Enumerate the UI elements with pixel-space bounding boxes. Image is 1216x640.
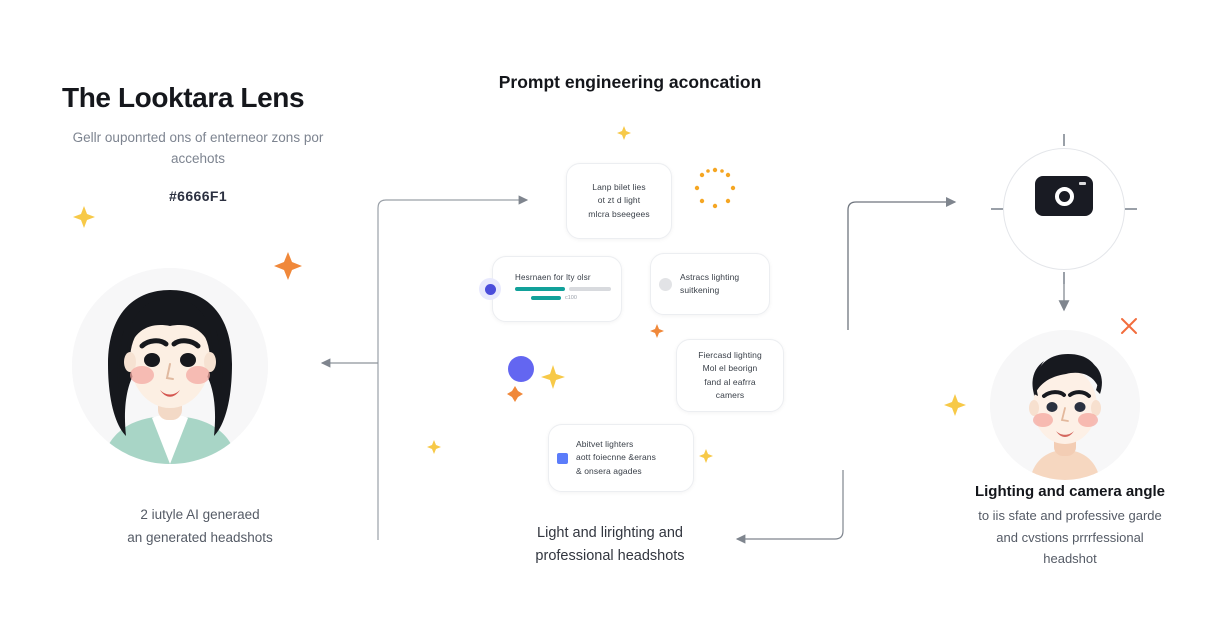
sparkle-yellow-2-icon bbox=[617, 126, 631, 140]
sparkle-yellow-1-icon bbox=[73, 206, 95, 228]
sparkle-yellow-6-icon bbox=[944, 394, 966, 416]
sunburst-orange-icon bbox=[695, 168, 735, 208]
dot-indigo-icon bbox=[508, 356, 534, 382]
sparkle-yellow-5-icon bbox=[699, 449, 713, 463]
decoration-layer bbox=[0, 0, 1216, 640]
diagram-canvas: The Looktara Lens Gellr ouponrted ons of… bbox=[0, 0, 1216, 640]
sparkle-yellow-4-icon bbox=[427, 440, 441, 454]
sparkle-yellow-3-icon bbox=[541, 365, 565, 389]
sparkle-orange-3-icon bbox=[507, 386, 523, 402]
sparkle-orange-1-icon bbox=[274, 252, 302, 280]
sparkle-orange-2-icon bbox=[650, 324, 664, 338]
